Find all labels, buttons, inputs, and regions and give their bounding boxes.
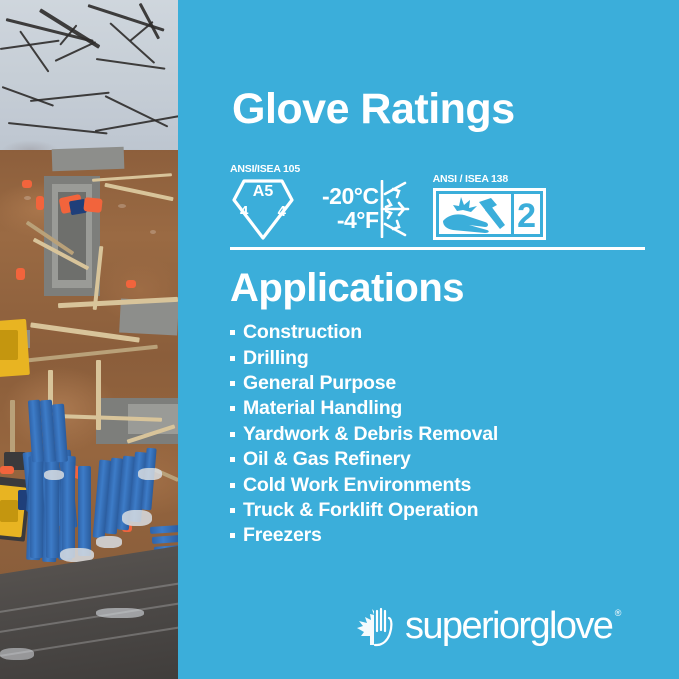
- bullet-icon: [230, 330, 235, 335]
- temperature-values: -20°C -4°F: [322, 185, 379, 233]
- list-item-label: Cold Work Environments: [243, 474, 471, 497]
- snow-patch: [96, 536, 122, 548]
- impact-rating-badge: ANSI / ISEA 138: [433, 173, 546, 240]
- glove-ratings-row: ANSI/ISEA 105 A5 4 4 -20°C -4°F: [230, 145, 546, 240]
- lumber-post: [10, 400, 15, 460]
- dirt-texture: [118, 204, 126, 208]
- list-item-label: Oil & Gas Refinery: [243, 448, 411, 471]
- list-item-label: Freezers: [243, 524, 322, 547]
- impact-box: 2: [433, 188, 546, 240]
- list-item: Freezers: [230, 523, 498, 548]
- hand-hammer-impact-icon: [439, 194, 511, 234]
- list-item: Cold Work Environments: [230, 472, 498, 497]
- list-item: Yardwork & Debris Removal: [230, 422, 498, 447]
- brand-name-wrap: superiorglove ®: [405, 607, 612, 645]
- bullet-icon: [230, 432, 235, 437]
- temperature-celsius: -20°C: [322, 185, 379, 209]
- list-item-label: Drilling: [243, 347, 309, 370]
- snow-patch: [0, 648, 34, 660]
- snow-patch: [122, 510, 152, 526]
- registered-trademark: ®: [615, 609, 622, 618]
- impact-level-value: 2: [514, 194, 540, 234]
- impact-icon-cell: [439, 194, 511, 234]
- temperature-rating: -20°C -4°F: [322, 180, 411, 238]
- bullet-icon: [230, 406, 235, 411]
- worker-hi-vis: [0, 466, 14, 474]
- cut-pentagon: A5 4 4: [230, 178, 296, 240]
- dirt-texture: [24, 196, 31, 200]
- snow-patch: [44, 470, 64, 480]
- concrete-slab: [52, 147, 125, 171]
- blue-pipe: [78, 466, 91, 556]
- list-item: Oil & Gas Refinery: [230, 447, 498, 472]
- cut-rating-badge: ANSI/ISEA 105 A5 4 4: [230, 163, 316, 240]
- bullet-icon: [230, 483, 235, 488]
- construction-site-photo: [0, 0, 178, 679]
- brand-name: superiorglove: [405, 605, 612, 647]
- maple-leaf-hand-icon: [354, 605, 398, 647]
- list-item-label: Construction: [243, 321, 362, 344]
- cut-left-value: 4: [240, 203, 248, 220]
- snow-patch: [96, 608, 144, 618]
- bullet-icon: [230, 533, 235, 538]
- snow-patch: [138, 468, 162, 480]
- bullet-icon: [230, 381, 235, 386]
- list-item-label: General Purpose: [243, 372, 396, 395]
- excavator-cab: [0, 500, 18, 522]
- dirt-texture: [150, 230, 156, 234]
- cut-right-value: 4: [278, 203, 286, 220]
- excavator-cab: [0, 330, 18, 360]
- bullet-icon: [230, 508, 235, 513]
- worker-hi-vis: [83, 197, 102, 213]
- worker-hi-vis: [36, 196, 44, 210]
- applications-list: Construction Drilling General Purpose Ma…: [230, 320, 498, 549]
- impact-rating-standard-label: ANSI / ISEA 138: [433, 173, 546, 185]
- page-title: Glove Ratings: [232, 88, 515, 131]
- section-divider: [230, 247, 645, 250]
- blue-pipe: [30, 458, 43, 558]
- brand-logo: superiorglove ®: [354, 605, 612, 647]
- list-item: Truck & Forklift Operation: [230, 498, 498, 523]
- list-item-label: Truck & Forklift Operation: [243, 499, 478, 522]
- list-item: Construction: [230, 320, 498, 345]
- cut-level-value: A5: [230, 183, 296, 201]
- worker-hi-vis: [22, 180, 32, 188]
- bullet-icon: [230, 457, 235, 462]
- info-panel: Glove Ratings ANSI/ISEA 105 A5 4 4 -20°C: [178, 0, 679, 679]
- snowflake-icon: [377, 180, 411, 238]
- temperature-fahrenheit: -4°F: [322, 209, 379, 233]
- list-item: Material Handling: [230, 396, 498, 421]
- list-item: Drilling: [230, 345, 498, 370]
- worker-hi-vis: [126, 280, 136, 288]
- list-item-label: Material Handling: [243, 397, 402, 420]
- list-item: General Purpose: [230, 371, 498, 396]
- cut-rating-standard-label: ANSI/ISEA 105: [230, 163, 316, 175]
- product-info-card: Glove Ratings ANSI/ISEA 105 A5 4 4 -20°C: [0, 0, 679, 679]
- applications-title: Applications: [230, 268, 464, 308]
- bullet-icon: [230, 356, 235, 361]
- worker-hi-vis: [16, 268, 25, 280]
- list-item-label: Yardwork & Debris Removal: [243, 423, 498, 446]
